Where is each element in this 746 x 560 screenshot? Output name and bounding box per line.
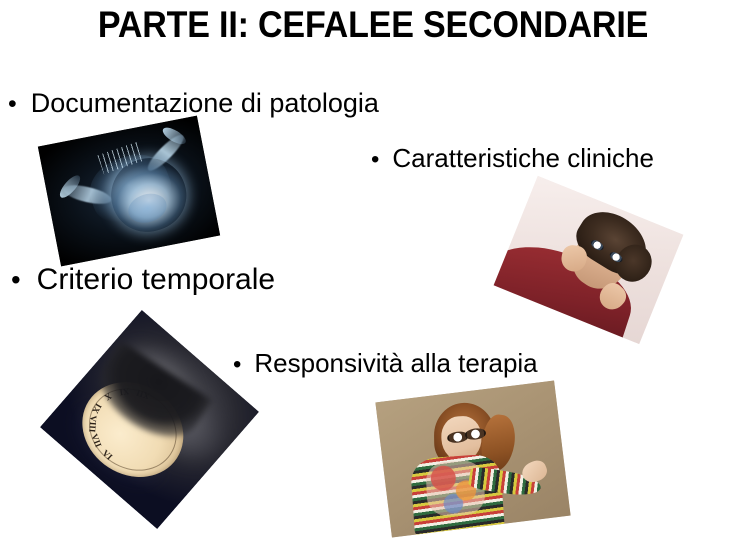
clock-numeral: VI	[100, 448, 114, 462]
young-woman-pointing-photo	[375, 381, 570, 538]
clock-numeral: IX	[90, 401, 104, 415]
melting-clock-photo: VIVIIVIIIIXXXIXII	[40, 310, 259, 529]
bullet-item-criterio: • Criterio temporale	[11, 263, 275, 297]
clock-numeral: VII	[89, 432, 103, 448]
bullet-marker-icon: •	[8, 93, 17, 118]
page-title: PARTE II: CEFALEE SECONDARIE	[30, 4, 716, 46]
slide-canvas: PARTE II: CEFALEE SECONDARIE • Documenta…	[0, 0, 746, 560]
bullet-text: Caratteristiche cliniche	[392, 143, 654, 174]
surprised-man-photo	[494, 176, 684, 344]
xray-skeleton-photo	[38, 116, 220, 267]
bullet-item-caratteristiche: • Caratteristiche cliniche	[371, 143, 654, 174]
bullet-text: Responsività alla terapia	[254, 348, 537, 379]
bullet-item-responsivita: • Responsività alla terapia	[233, 348, 538, 379]
clock-numeral: VIII	[87, 415, 98, 433]
bullet-marker-icon: •	[233, 353, 241, 377]
bullet-item-documentazione: • Documentazione di patologia	[8, 88, 379, 119]
bullet-marker-icon: •	[11, 266, 21, 294]
bullet-marker-icon: •	[371, 148, 379, 172]
bullet-text: Documentazione di patologia	[31, 88, 379, 119]
bullet-text: Criterio temporale	[37, 263, 275, 297]
